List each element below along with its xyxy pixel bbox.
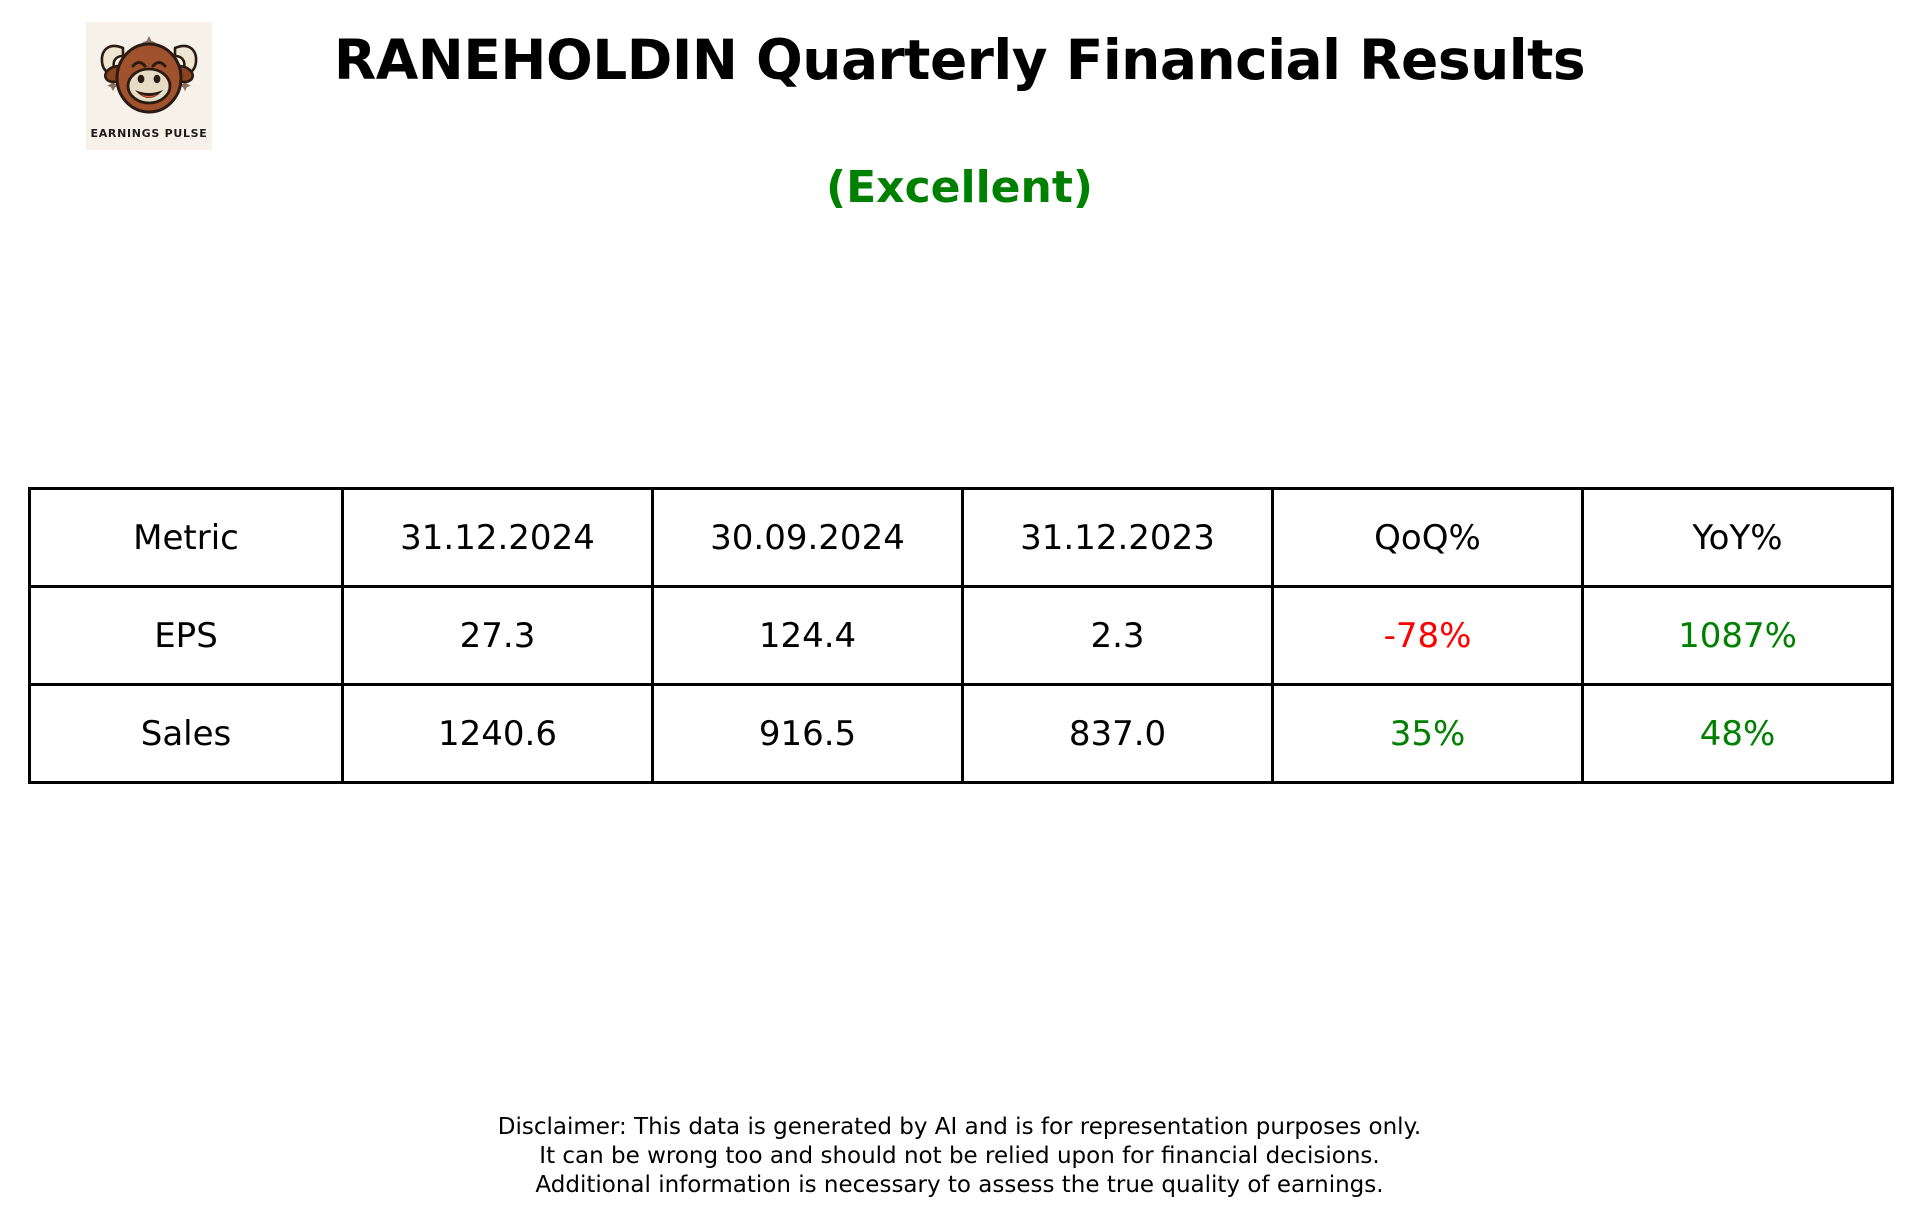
disclaimer-line-2: It can be wrong too and should not be re… xyxy=(0,1142,1919,1171)
disclaimer-line-1: Disclaimer: This data is generated by AI… xyxy=(0,1113,1919,1142)
eps-value-period-2: 124.4 xyxy=(653,587,963,685)
header-cell-period-1: 31.12.2024 xyxy=(343,489,653,587)
header-cell-yoy: YoY% xyxy=(1583,489,1893,587)
sales-value-period-1: 1240.6 xyxy=(343,685,653,783)
sales-yoy-change: 48% xyxy=(1583,685,1893,783)
page-title: RANEHOLDIN Quarterly Financial Results xyxy=(0,28,1919,92)
table-header-row: Metric 31.12.2024 30.09.2024 31.12.2023 … xyxy=(30,489,1893,587)
logo-wordmark: EARNINGS PULSE xyxy=(90,127,207,140)
sales-value-period-3: 837.0 xyxy=(963,685,1273,783)
header-cell-period-3: 31.12.2023 xyxy=(963,489,1273,587)
header-cell-metric: Metric xyxy=(30,489,343,587)
eps-yoy-change: 1087% xyxy=(1583,587,1893,685)
rating-subtitle: (Excellent) xyxy=(0,162,1919,213)
disclaimer-line-3: Additional information is necessary to a… xyxy=(0,1171,1919,1200)
table-row: EPS 27.3 124.4 2.3 -78% 1087% xyxy=(30,587,1893,685)
disclaimer: Disclaimer: This data is generated by AI… xyxy=(0,1113,1919,1200)
sales-value-period-2: 916.5 xyxy=(653,685,963,783)
header-cell-period-2: 30.09.2024 xyxy=(653,489,963,587)
financial-results-table: Metric 31.12.2024 30.09.2024 31.12.2023 … xyxy=(28,487,1894,784)
eps-value-period-1: 27.3 xyxy=(343,587,653,685)
eps-value-period-3: 2.3 xyxy=(963,587,1273,685)
table-row: Sales 1240.6 916.5 837.0 35% 48% xyxy=(30,685,1893,783)
row-label-sales: Sales xyxy=(30,685,343,783)
header-cell-qoq: QoQ% xyxy=(1273,489,1583,587)
row-label-eps: EPS xyxy=(30,587,343,685)
eps-qoq-change: -78% xyxy=(1273,587,1583,685)
sales-qoq-change: 35% xyxy=(1273,685,1583,783)
